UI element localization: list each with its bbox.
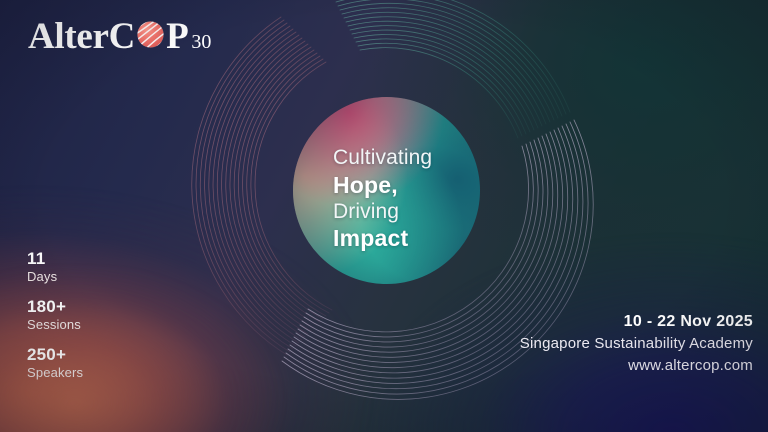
vignette-overlay: [0, 0, 768, 432]
altercop-event-poster: Cultivating Hope, Driving Impact AlterC: [0, 0, 768, 432]
